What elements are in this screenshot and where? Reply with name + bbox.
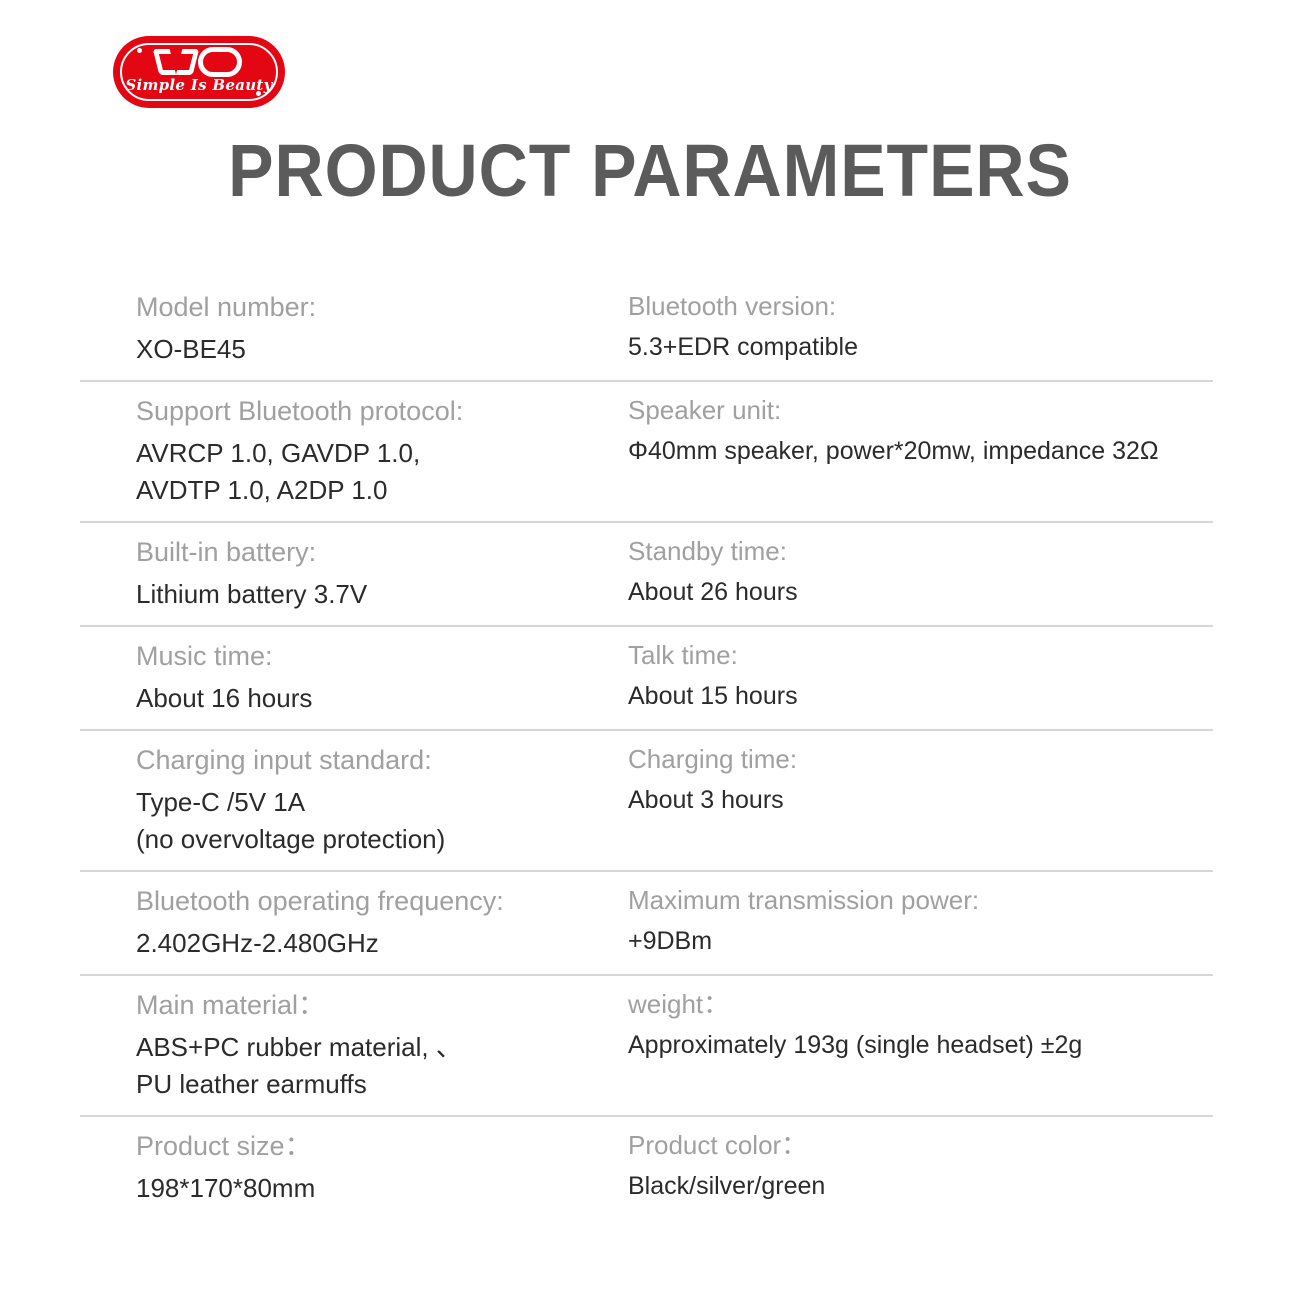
spec-value: Approximately 193g (single headset) ±2g	[628, 1028, 1213, 1064]
spec-cell-right: Talk time: About 15 hours	[628, 627, 1213, 729]
logo-letter-x-icon	[156, 47, 196, 77]
spec-label: Music time:	[136, 637, 628, 676]
spec-label: weight：	[628, 986, 1213, 1024]
spec-value: About 26 hours	[628, 575, 1213, 611]
page-title: PRODUCT PARAMETERS	[52, 128, 1248, 213]
spec-label: Model number:	[136, 288, 628, 327]
spec-label: Charging input standard:	[136, 741, 628, 780]
spec-label: Speaker unit:	[628, 392, 1213, 430]
spec-value-line: Φ40mm speaker, power*20mw, impedance 32Ω	[628, 434, 1213, 470]
spec-label: Product size：	[136, 1127, 628, 1166]
spec-cell-left: Model number: XO-BE45	[80, 278, 628, 380]
spec-value-line: (no overvoltage protection)	[136, 821, 628, 858]
spec-value-line: About 3 hours	[628, 783, 1213, 819]
spec-value-line: About 26 hours	[628, 575, 1213, 611]
logo-tagline: Simple Is Beauty	[113, 76, 285, 94]
spec-label: Bluetooth version:	[628, 288, 1213, 326]
spec-value: About 3 hours	[628, 783, 1213, 819]
spec-label: Charging time:	[628, 741, 1213, 779]
spec-row: Product size： 198*170*80mm Product color…	[80, 1117, 1213, 1219]
spec-label: Standby time:	[628, 533, 1213, 571]
spec-table: Model number: XO-BE45 Bluetooth version:…	[80, 278, 1213, 1219]
spec-value: ABS+PC rubber material, 、 PU leather ear…	[136, 1029, 628, 1103]
spec-cell-left: Product size： 198*170*80mm	[80, 1117, 628, 1219]
spec-value: AVRCP 1.0, GAVDP 1.0, AVDTP 1.0, A2DP 1.…	[136, 435, 628, 509]
spec-cell-left: Charging input standard: Type-C /5V 1A (…	[80, 731, 628, 870]
logo-badge: Simple Is Beauty	[113, 36, 285, 108]
spec-value-line: Approximately 193g (single headset) ±2g	[628, 1028, 1213, 1064]
spec-cell-left: Support Bluetooth protocol: AVRCP 1.0, G…	[80, 382, 628, 521]
spec-cell-right: Bluetooth version: 5.3+EDR compatible	[628, 278, 1213, 380]
logo-letter-o-icon	[198, 47, 242, 77]
logo-xo-mark	[113, 45, 285, 79]
spec-cell-left: Music time: About 16 hours	[80, 627, 628, 729]
spec-value-line: 198*170*80mm	[136, 1170, 628, 1207]
brand-logo: Simple Is Beauty	[113, 36, 285, 108]
spec-value: Φ40mm speaker, power*20mw, impedance 32Ω	[628, 434, 1213, 470]
spec-value-line: +9DBm	[628, 924, 1213, 960]
spec-row: Bluetooth operating frequency: 2.402GHz-…	[80, 872, 1213, 976]
spec-value: +9DBm	[628, 924, 1213, 960]
spec-cell-right: Charging time: About 3 hours	[628, 731, 1213, 870]
spec-value: XO-BE45	[136, 331, 628, 368]
spec-value-line: About 15 hours	[628, 679, 1213, 715]
spec-value-line: XO-BE45	[136, 331, 628, 368]
spec-value: 5.3+EDR compatible	[628, 330, 1213, 366]
spec-label: Built-in battery:	[136, 533, 628, 572]
spec-cell-left: Bluetooth operating frequency: 2.402GHz-…	[80, 872, 628, 974]
spec-row: Built-in battery: Lithium battery 3.7V S…	[80, 523, 1213, 627]
spec-value-line: ABS+PC rubber material, 、	[136, 1029, 628, 1066]
spec-value-line: Lithium battery 3.7V	[136, 576, 628, 613]
spec-label: Talk time:	[628, 637, 1213, 675]
spec-cell-right: Maximum transmission power: +9DBm	[628, 872, 1213, 974]
spec-label: Main material：	[136, 986, 628, 1025]
spec-cell-right: weight： Approximately 193g (single heads…	[628, 976, 1213, 1115]
spec-value-line: Black/silver/green	[628, 1169, 1213, 1205]
spec-value-line: 5.3+EDR compatible	[628, 330, 1213, 366]
spec-value: 2.402GHz-2.480GHz	[136, 925, 628, 962]
spec-value-line: 2.402GHz-2.480GHz	[136, 925, 628, 962]
spec-label: Bluetooth operating frequency:	[136, 882, 628, 921]
spec-cell-right: Standby time: About 26 hours	[628, 523, 1213, 625]
spec-value-line: About 16 hours	[136, 680, 628, 717]
spec-row: Music time: About 16 hours Talk time: Ab…	[80, 627, 1213, 731]
spec-cell-left: Main material： ABS+PC rubber material, 、…	[80, 976, 628, 1115]
spec-cell-right: Speaker unit: Φ40mm speaker, power*20mw,…	[628, 382, 1213, 521]
spec-label: Maximum transmission power:	[628, 882, 1213, 920]
spec-row: Main material： ABS+PC rubber material, 、…	[80, 976, 1213, 1117]
spec-value: About 16 hours	[136, 680, 628, 717]
spec-label: Product color：	[628, 1127, 1213, 1165]
spec-value-line: AVRCP 1.0, GAVDP 1.0,	[136, 435, 628, 472]
spec-cell-left: Built-in battery: Lithium battery 3.7V	[80, 523, 628, 625]
spec-row: Model number: XO-BE45 Bluetooth version:…	[80, 278, 1213, 382]
spec-value: Black/silver/green	[628, 1169, 1213, 1205]
spec-cell-right: Product color： Black/silver/green	[628, 1117, 1213, 1219]
spec-value: Lithium battery 3.7V	[136, 576, 628, 613]
spec-value-line: AVDTP 1.0, A2DP 1.0	[136, 472, 628, 509]
spec-row: Charging input standard: Type-C /5V 1A (…	[80, 731, 1213, 872]
spec-value-line: PU leather earmuffs	[136, 1066, 628, 1103]
spec-value-line: Type-C /5V 1A	[136, 784, 628, 821]
spec-value: About 15 hours	[628, 679, 1213, 715]
spec-value: 198*170*80mm	[136, 1170, 628, 1207]
spec-value: Type-C /5V 1A (no overvoltage protection…	[136, 784, 628, 858]
spec-row: Support Bluetooth protocol: AVRCP 1.0, G…	[80, 382, 1213, 523]
spec-label: Support Bluetooth protocol:	[136, 392, 628, 431]
